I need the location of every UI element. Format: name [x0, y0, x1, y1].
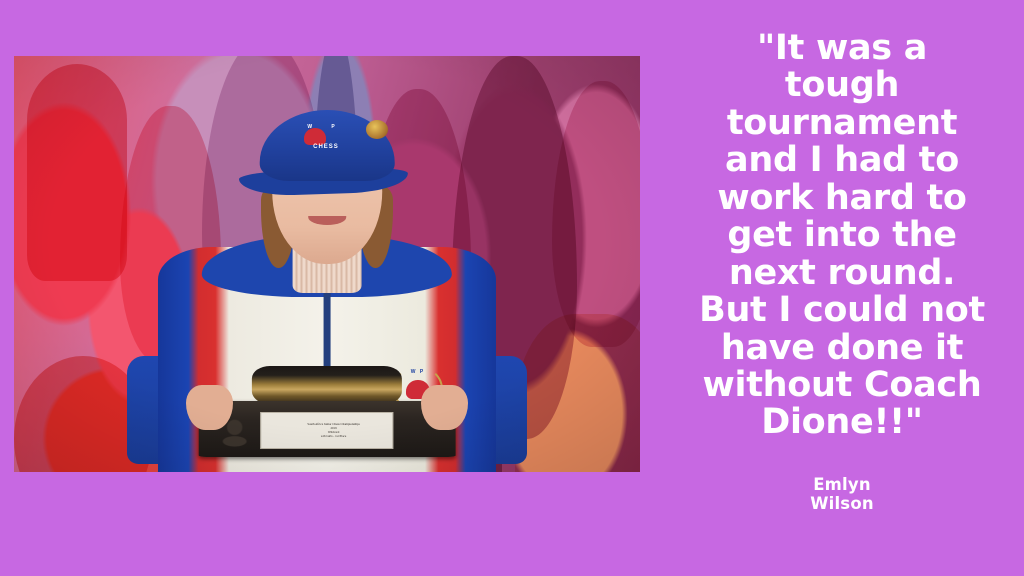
attribution: Emlyn Wilson [810, 476, 874, 514]
cap-logo-icon [304, 128, 325, 145]
quote-line: and I had to [687, 142, 997, 179]
attribution-last-name: Wilson [810, 495, 874, 514]
quote-line: get into the [687, 217, 997, 254]
quote-line: tournament [687, 105, 997, 142]
quote-line: have done it [687, 330, 997, 367]
quote-line: without Coach [687, 367, 997, 404]
plaque-line-4: u16 Girls - 1st Place [307, 434, 359, 438]
cap-word: CHESS [313, 144, 339, 150]
quote-line: But I could not [687, 292, 997, 329]
quote-slide: W P CHESS W P CHESS [0, 0, 1024, 576]
athlete-photo: W P CHESS W P CHESS [14, 56, 640, 472]
quote-line: work hard to [687, 180, 997, 217]
quote-text: "It was atoughtournamentand I had towork… [687, 30, 997, 442]
trophy-plaque: South Africa Junior Chess Championships … [260, 412, 393, 449]
left-hand [186, 385, 233, 431]
quote-line: next round. [687, 255, 997, 292]
girl-figure: W P CHESS W P CHESS [14, 56, 640, 472]
quote-panel: "It was atoughtournamentand I had towork… [660, 0, 1024, 576]
attribution-first-name: Emlyn [810, 476, 874, 495]
right-hand [421, 385, 468, 431]
quote-line: "It was a [687, 30, 997, 67]
trophy-plaque-text: South Africa Junior Chess Championships … [294, 422, 360, 439]
quote-line: Dione!!" [687, 404, 997, 441]
quote-line: tough [687, 67, 997, 104]
